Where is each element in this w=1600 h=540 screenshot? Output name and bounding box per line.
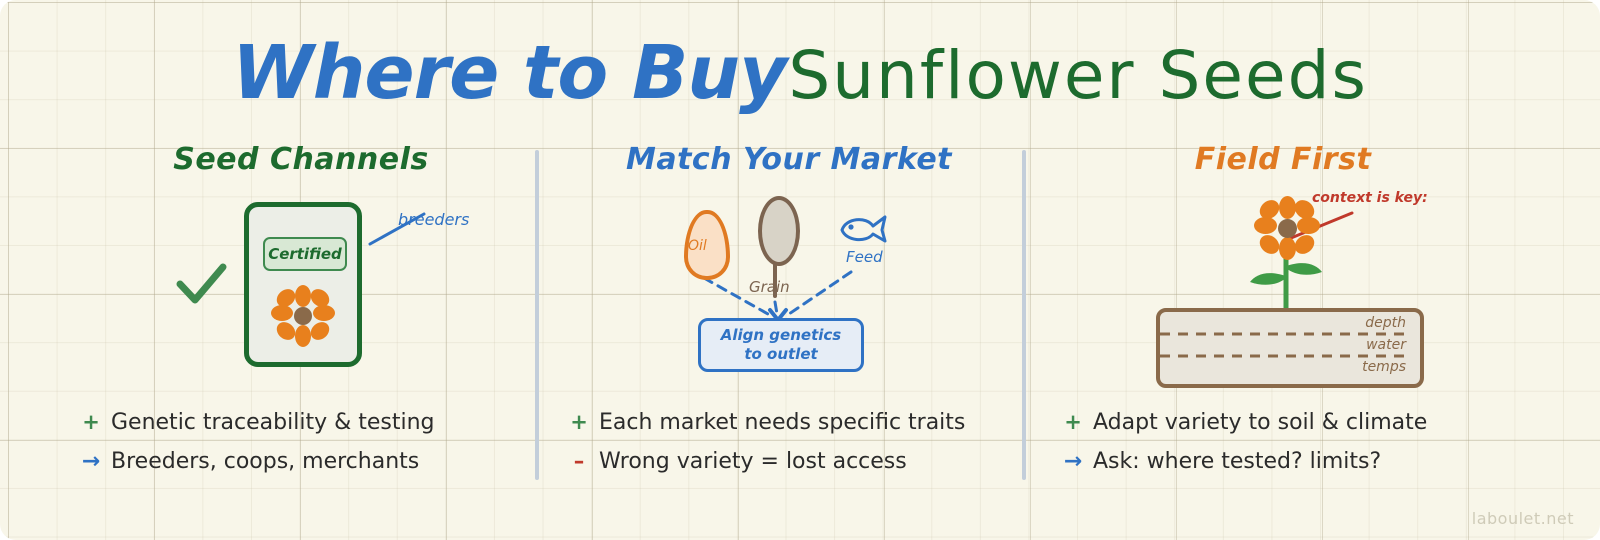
bullet-text: Wrong variety = lost access [599,449,907,474]
fish-feed-icon [836,212,888,246]
sunflower-icon [1254,196,1320,260]
title-part-one: Where to Buy [232,30,786,116]
bullet-marker-plus: + [568,410,590,434]
bullet-marker-minus: – [568,449,590,473]
column-heading-field-first: Field First [1040,142,1526,177]
soil-label-depth: depth [1365,315,1406,331]
list-item: – Wrong variety = lost access [568,449,1038,474]
bullets-seed-channels: + Genetic traceability & testing → Breed… [80,410,550,488]
bullets-match-your-market: + Each market needs specific traits – Wr… [568,410,1038,488]
illustration-field-first: context is key: [1040,190,1526,440]
illustration-seed-channels: Certified breeders [58,190,544,440]
column-seed-channels: Seed Channels Certified [58,142,544,502]
check-icon [176,262,228,308]
grain-icon [758,196,800,266]
bullet-text: Ask: where tested? limits? [1093,449,1381,474]
page-title: Where to BuySunflower Seeds [0,36,1600,110]
certified-badge: Certified [263,237,347,271]
soil-label-temps: temps [1362,359,1406,375]
soil-profile-box: depth water temps [1156,308,1424,388]
feed-label: Feed [846,248,883,266]
certified-card: Certified [244,202,362,367]
column-match-your-market: Match Your Market Oil Grain Feed Align g… [546,142,1032,502]
align-box-line-1: Align genetics [721,326,841,345]
column-heading-match-your-market: Match Your Market [546,142,1032,177]
certified-label: Certified [268,245,342,263]
sunflower-icon [271,285,335,347]
bullet-text: Genetic traceability & testing [111,410,435,435]
bullet-marker-arrow: → [1062,449,1084,474]
bullet-text: Each market needs specific traits [599,410,965,435]
align-genetics-box: Align genetics to outlet [698,318,864,372]
bullet-text: Breeders, coops, merchants [111,449,419,474]
oil-label: Oil [688,238,707,254]
illustration-match-your-market: Oil Grain Feed Align genetics to outlet [546,190,1032,440]
column-heading-seed-channels: Seed Channels [58,142,544,177]
list-item: + Genetic traceability & testing [80,410,550,435]
infographic-canvas: Where to BuySunflower Seeds Seed Channel… [0,0,1600,540]
bullet-marker-arrow: → [80,449,102,474]
bullet-marker-plus: + [80,410,102,434]
watermark: laboulet.net [1472,509,1574,528]
bullets-field-first: + Adapt variety to soil & climate → Ask:… [1062,410,1532,488]
list-item: + Adapt variety to soil & climate [1062,410,1532,435]
bullet-text: Adapt variety to soil & climate [1093,410,1427,435]
column-field-first: Field First context is key: [1040,142,1526,502]
soil-label-water: water [1366,337,1406,353]
breeders-annotation: breeders [398,210,469,229]
align-box-line-2: to outlet [744,345,817,364]
bullet-marker-plus: + [1062,410,1084,434]
title-part-two: Sunflower Seeds [788,37,1368,114]
list-item: + Each market needs specific traits [568,410,1038,435]
list-item: → Breeders, coops, merchants [80,449,550,474]
list-item: → Ask: where tested? limits? [1062,449,1532,474]
grain-label: Grain [749,278,790,296]
